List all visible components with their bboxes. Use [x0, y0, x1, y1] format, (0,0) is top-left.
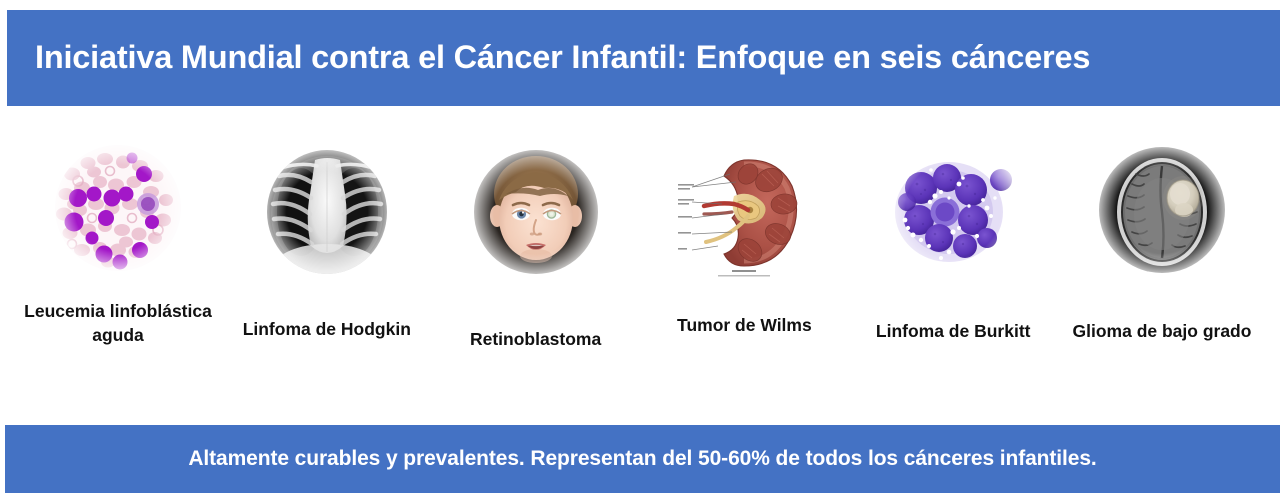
cancer-label: Linfoma de Burkitt: [858, 320, 1048, 344]
blood-smear-leukemia-image: [48, 138, 188, 278]
footer-banner: Altamente curables y prevalentes. Repres…: [5, 425, 1280, 493]
page-title: Iniciativa Mundial contra el Cáncer Infa…: [35, 40, 1090, 76]
cancer-label: Glioma de bajo grado: [1067, 320, 1257, 344]
child-face-leukocoria-image: [466, 142, 606, 282]
brain-mri-image: [1092, 140, 1232, 280]
cancer-card-linfoma-de-burkitt[interactable]: Linfoma de Burkitt: [853, 118, 1053, 344]
header-banner: Iniciativa Mundial contra el Cáncer Infa…: [7, 10, 1280, 106]
cancer-card-linfoma-de-hodgkin[interactable]: Linfoma de Hodgkin: [227, 118, 427, 342]
cancer-label: Retinoblastoma: [441, 328, 631, 352]
cancer-label: Tumor de Wilms: [649, 314, 839, 338]
chest-xray-image: [257, 142, 397, 282]
cancer-card-tumor-de-wilms[interactable]: Tumor de Wilms: [644, 118, 844, 338]
burkitt-cells-image: [883, 140, 1023, 280]
cancer-label: Linfoma de Hodgkin: [232, 318, 422, 342]
cancer-card-glioma-de-bajo-grado[interactable]: Glioma de bajo grado: [1062, 118, 1262, 344]
cancer-label: Leucemia linfoblástica aguda: [23, 300, 213, 347]
footer-statement: Altamente curables y prevalentes. Repres…: [188, 447, 1096, 471]
cancer-types-row: Leucemia linfoblástica aguda: [0, 118, 1280, 418]
kidney-anatomy-image: [674, 142, 814, 282]
cancer-card-retinoblastoma[interactable]: Retinoblastoma: [436, 118, 636, 352]
cancer-card-leucemia-linfoblastica-aguda[interactable]: Leucemia linfoblástica aguda: [18, 118, 218, 347]
